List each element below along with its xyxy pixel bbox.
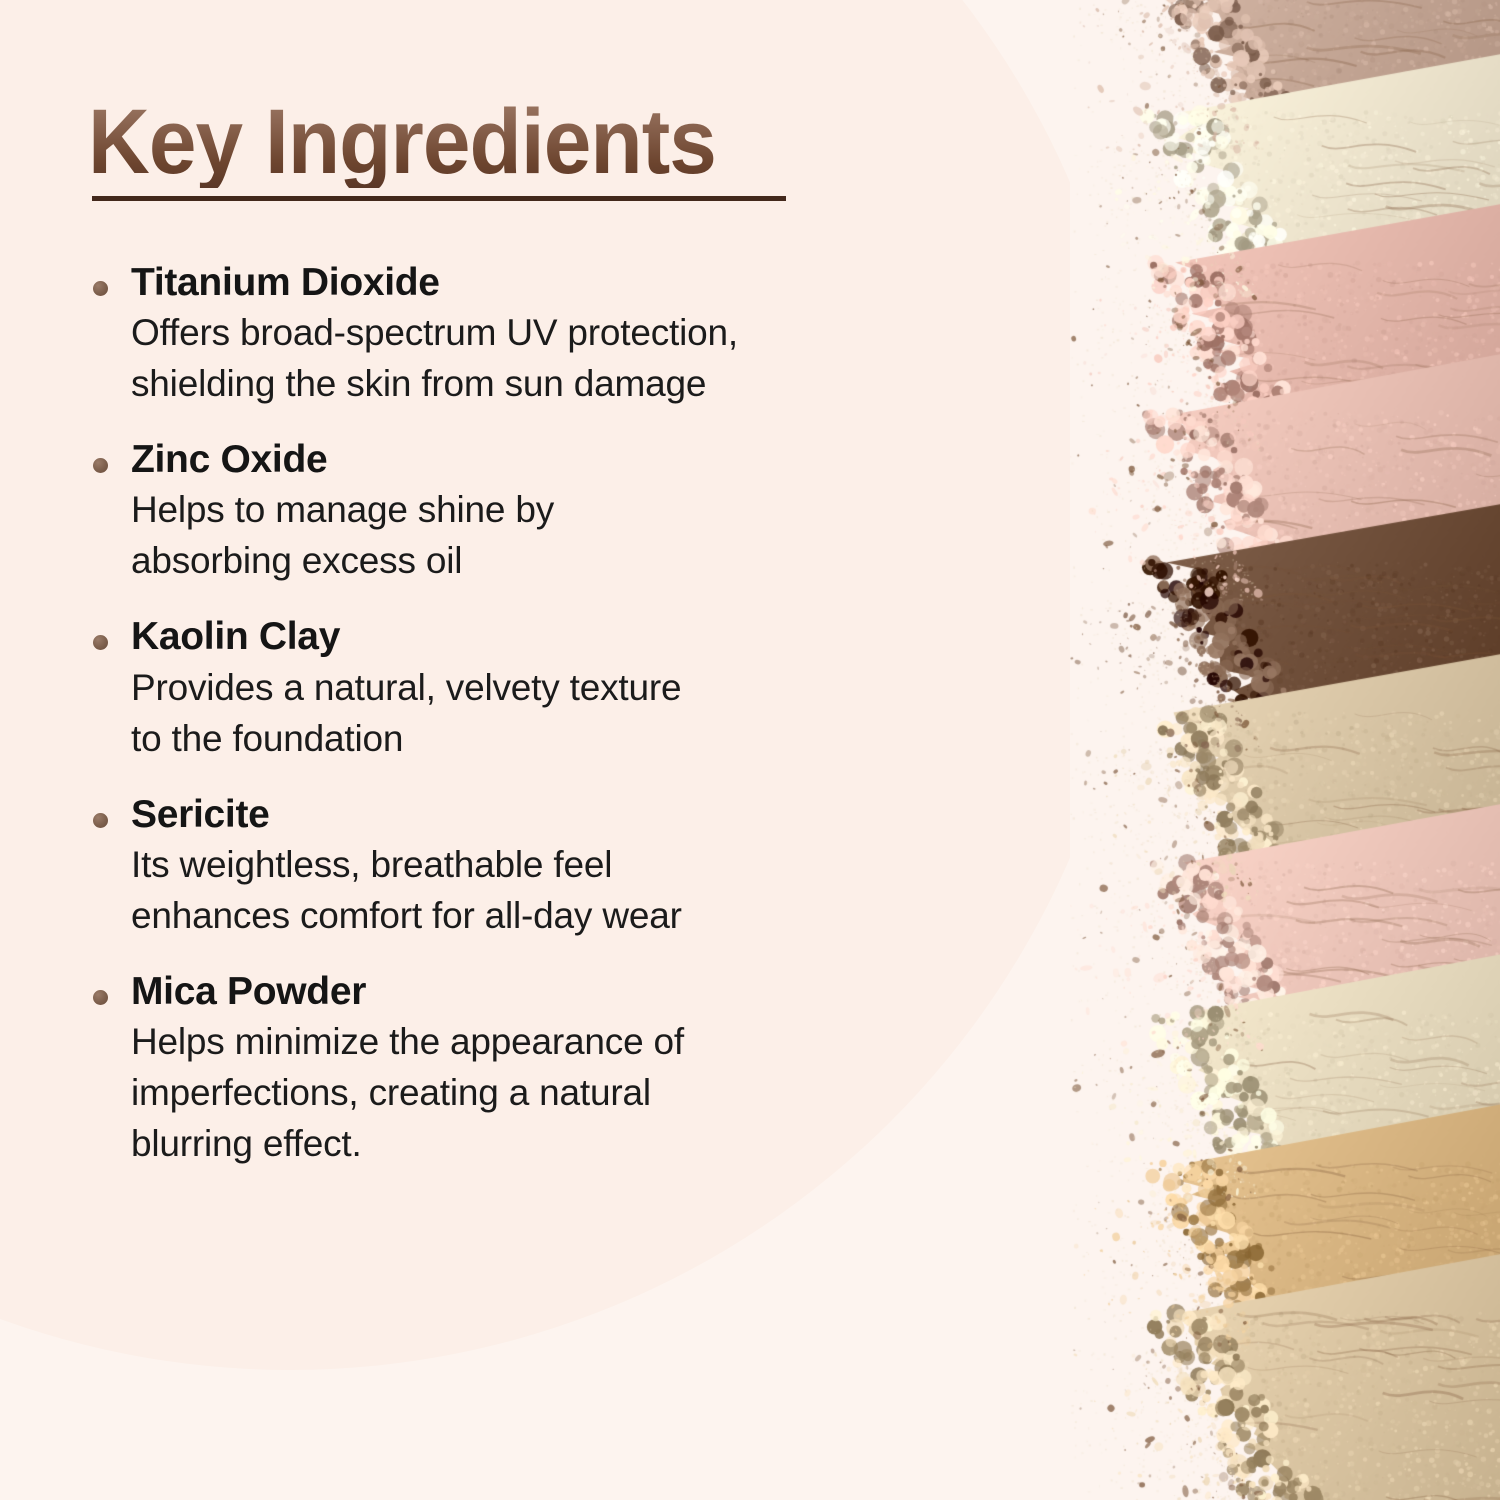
ingredients-list: Titanium Dioxide Offers broad-spectrum U… xyxy=(88,262,988,1169)
ingredient-description: Offers broad-spectrum UV protection, shi… xyxy=(131,307,988,409)
description-line: Offers broad-spectrum UV protection, xyxy=(131,307,988,358)
description-line: to the foundation xyxy=(131,713,988,764)
ingredient-body: Mica Powder Helps minimize the appearanc… xyxy=(88,971,988,1169)
ingredient-name: Zinc Oxide xyxy=(131,439,988,481)
bullet-dot-icon xyxy=(93,281,108,296)
description-line: imperfections, creating a natural xyxy=(131,1067,988,1118)
ingredient-body: Sericite Its weightless, breathable feel… xyxy=(88,794,988,941)
ingredient-item: Sericite Its weightless, breathable feel… xyxy=(88,794,988,941)
ingredient-name: Mica Powder xyxy=(131,971,988,1013)
ingredient-item: Zinc Oxide Helps to manage shine by abso… xyxy=(88,439,988,586)
page-title-container: Key Ingredients xyxy=(88,96,767,188)
text-column: Key Ingredients Titanium Dioxide Offers … xyxy=(0,0,1060,1500)
key-ingredients-poster: Key Ingredients Titanium Dioxide Offers … xyxy=(0,0,1500,1500)
page-title: Key Ingredients xyxy=(88,96,720,188)
ingredient-name: Sericite xyxy=(131,794,988,836)
ingredient-body: Titanium Dioxide Offers broad-spectrum U… xyxy=(88,262,988,409)
ingredient-item: Kaolin Clay Provides a natural, velvety … xyxy=(88,616,988,763)
ingredient-body: Kaolin Clay Provides a natural, velvety … xyxy=(88,616,988,763)
ingredient-description: Its weightless, breathable feel enhances… xyxy=(131,839,988,941)
description-line: Helps to manage shine by xyxy=(131,484,988,535)
ingredient-name: Kaolin Clay xyxy=(131,616,988,658)
ingredient-description: Helps to manage shine by absorbing exces… xyxy=(131,484,988,586)
description-line: Provides a natural, velvety texture xyxy=(131,662,988,713)
description-line: blurring effect. xyxy=(131,1118,988,1169)
ingredient-body: Zinc Oxide Helps to manage shine by abso… xyxy=(88,439,988,586)
description-line: Its weightless, breathable feel xyxy=(131,839,988,890)
ingredient-description: Provides a natural, velvety texture to t… xyxy=(131,662,988,764)
bullet-dot-icon xyxy=(93,990,108,1005)
ingredient-description: Helps minimize the appearance of imperfe… xyxy=(131,1016,988,1169)
ingredient-item: Mica Powder Helps minimize the appearanc… xyxy=(88,971,988,1169)
description-line: shielding the skin from sun damage xyxy=(131,358,988,409)
description-line: Helps minimize the appearance of xyxy=(131,1016,988,1067)
description-line: absorbing excess oil xyxy=(131,535,988,586)
description-line: enhances comfort for all-day wear xyxy=(131,890,988,941)
ingredient-name: Titanium Dioxide xyxy=(131,262,988,304)
bullet-dot-icon xyxy=(93,813,108,828)
powder-swatch-photo xyxy=(1070,0,1500,1500)
ingredient-item: Titanium Dioxide Offers broad-spectrum U… xyxy=(88,262,988,409)
powder-swatch-canvas xyxy=(1070,0,1500,1500)
title-underline-rule xyxy=(92,196,786,201)
